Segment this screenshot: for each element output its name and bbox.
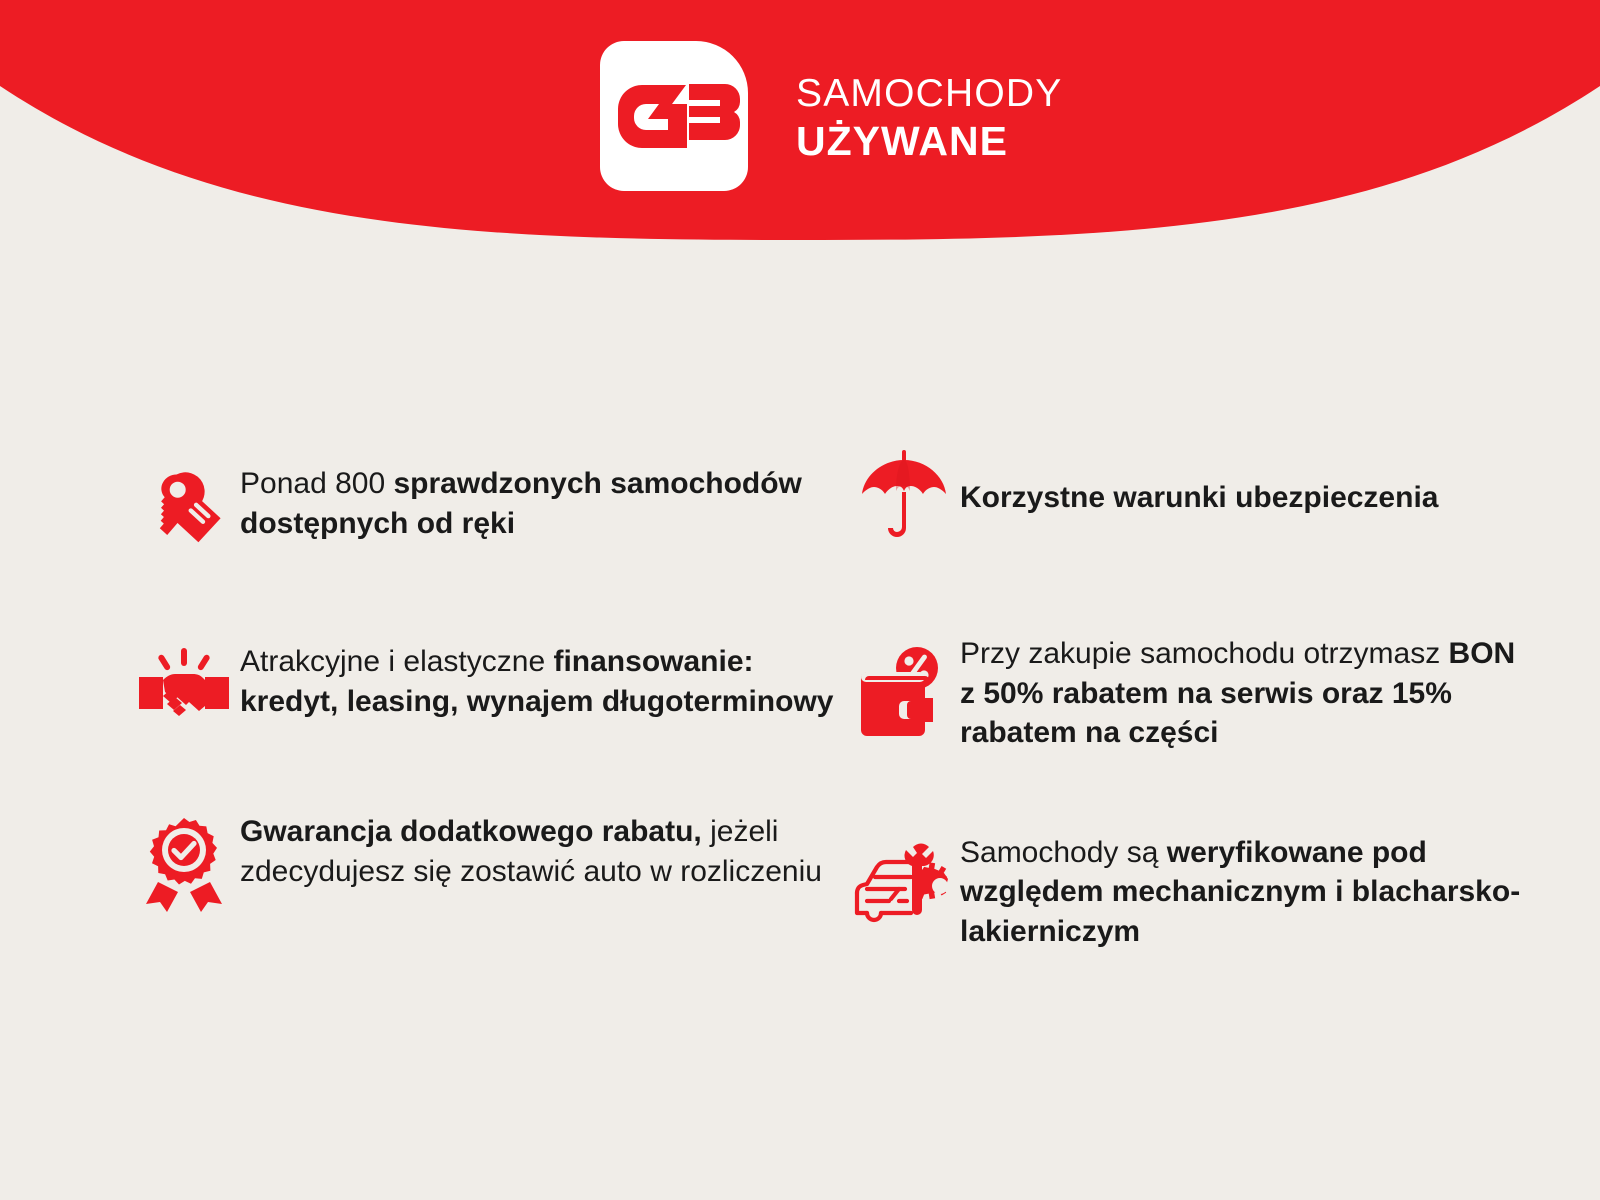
feature-text-financing: Atrakcyjne i elastyczne finansowanie: kr… bbox=[240, 640, 848, 721]
feature-text-insurance: Korzystne warunki ubezpieczenia bbox=[960, 452, 1528, 518]
wallet-discount-icon bbox=[848, 646, 960, 738]
feature-text-bold: Gwarancja dodatkowego rabatu, bbox=[240, 815, 702, 848]
feature-text-bold: Korzystne warunki ubezpieczenia bbox=[960, 481, 1438, 514]
feature-text-plain: Atrakcyjne i elastyczne bbox=[240, 645, 553, 678]
feature-text-plain: Przy zakupie samochodu otrzymasz bbox=[960, 637, 1449, 670]
feature-text-plain: Ponad 800 bbox=[240, 467, 393, 500]
feature-text-trade-in-guarantee: Gwarancja dodatkowego rabatu, jeżeli zde… bbox=[240, 810, 848, 891]
handshake-icon bbox=[128, 644, 240, 730]
feature-item-financing: Atrakcyjne i elastyczne finansowanie: kr… bbox=[128, 640, 848, 730]
feature-item-discount-voucher: Przy zakupie samochodu otrzymasz BON z 5… bbox=[848, 632, 1528, 753]
feature-item-insurance: Korzystne warunki ubezpieczenia bbox=[848, 452, 1528, 546]
car-wrench-gear-icon bbox=[848, 837, 960, 929]
award-badge-icon bbox=[128, 816, 240, 912]
feature-item-trade-in-guarantee: Gwarancja dodatkowego rabatu, jeżeli zde… bbox=[128, 810, 848, 912]
header-band: SAMOCHODY UŻYWANE bbox=[0, 0, 1600, 250]
feature-text-verification: Samochody są weryfikowane pod względem m… bbox=[960, 831, 1528, 952]
features-section: Ponad 800 sprawdzonych samochodów dostęp… bbox=[0, 430, 1600, 952]
feature-text-plain: Samochody są bbox=[960, 836, 1167, 869]
car-keys-icon bbox=[128, 468, 240, 550]
brand-lockup: SAMOCHODY UŻYWANE bbox=[600, 36, 1020, 196]
features-column-left: Ponad 800 sprawdzonych samochodów dostęp… bbox=[128, 430, 848, 952]
feature-text-discount-voucher: Przy zakupie samochodu otrzymasz BON z 5… bbox=[960, 632, 1528, 753]
gb-logo-icon bbox=[600, 41, 748, 191]
feature-item-verification: Samochody są weryfikowane pod względem m… bbox=[848, 831, 1528, 952]
features-column-right: Korzystne warunki ubezpieczenia bbox=[848, 430, 1528, 952]
brand-line-uzywane: UŻYWANE bbox=[796, 121, 1063, 162]
brand-line-samochody: SAMOCHODY bbox=[796, 74, 1063, 113]
umbrella-icon bbox=[848, 446, 960, 546]
feature-item-cars-available: Ponad 800 sprawdzonych samochodów dostęp… bbox=[128, 462, 848, 550]
feature-text-cars-available: Ponad 800 sprawdzonych samochodów dostęp… bbox=[240, 462, 848, 543]
brand-wordmark: SAMOCHODY UŻYWANE bbox=[796, 74, 1063, 162]
